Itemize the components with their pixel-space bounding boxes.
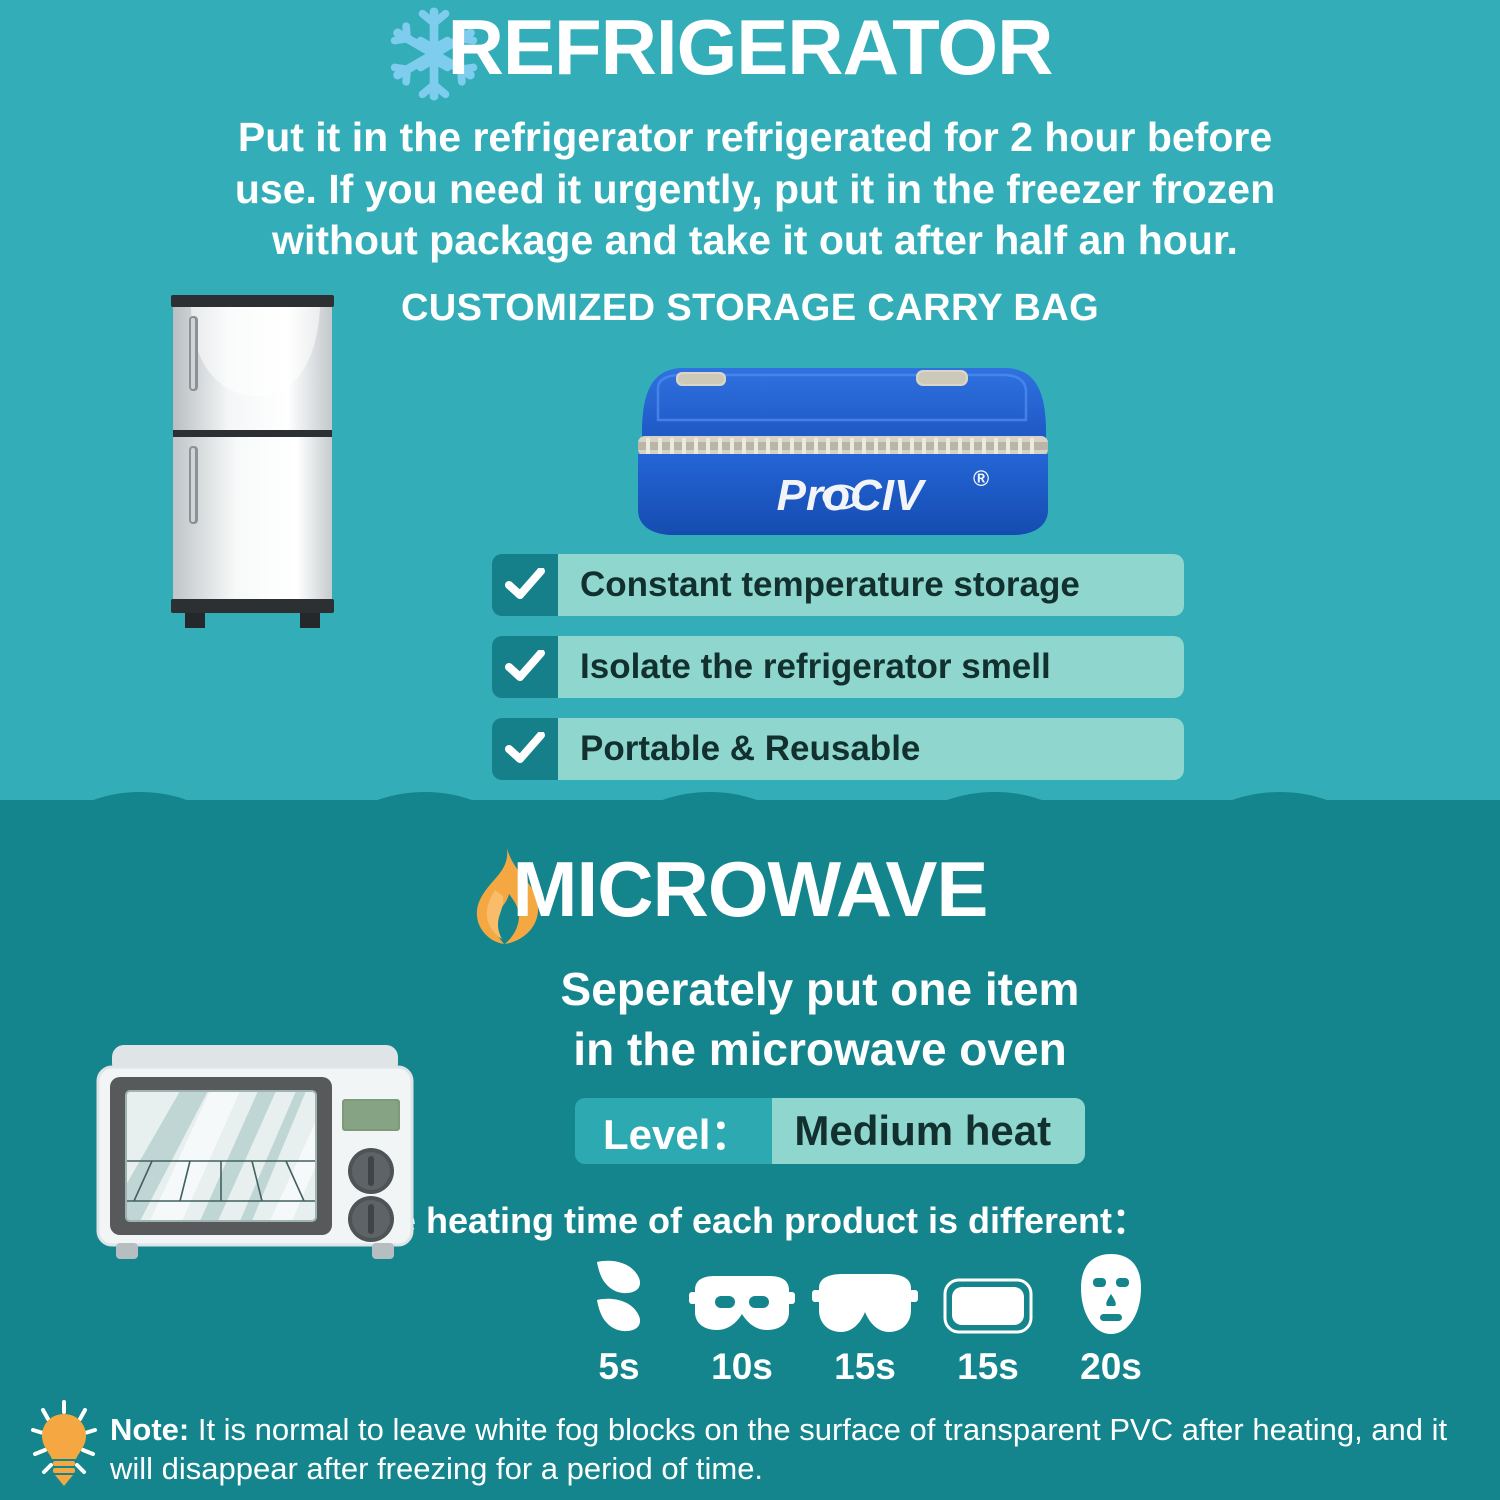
footer-note: Note: It is normal to leave white fog bl… bbox=[28, 1396, 1478, 1492]
list-item: Isolate the refrigerator smell bbox=[492, 636, 1184, 698]
storage-carry-bag: ProCIV ® bbox=[628, 358, 1058, 548]
microwave-instruction-line1: Seperately put one item bbox=[440, 960, 1200, 1020]
lightbulb-icon bbox=[28, 1396, 100, 1492]
list-item: Constant temperature storage bbox=[492, 554, 1184, 616]
note-body: It is normal to leave white fog blocks o… bbox=[110, 1412, 1447, 1486]
face-mask-icon bbox=[1076, 1252, 1146, 1338]
page-title: REFRIGERATOR bbox=[448, 8, 1053, 86]
feature-list: Constant temperature storage Isolate the… bbox=[492, 554, 1192, 800]
list-item: 20s bbox=[1052, 1252, 1170, 1388]
icon-time-label: 20s bbox=[1080, 1346, 1142, 1388]
icon-time-label: 15s bbox=[834, 1346, 896, 1388]
product-icons-row: 5s 10s 15s bbox=[560, 1252, 1170, 1388]
level-value: Medium heat bbox=[772, 1098, 1085, 1164]
microwave-header: MICROWAVE bbox=[0, 850, 1500, 928]
level-label: Level： bbox=[575, 1098, 772, 1164]
feature-label: Isolate the refrigerator smell bbox=[558, 636, 1184, 698]
feature-label: Portable & Reusable bbox=[558, 718, 1184, 780]
microwave-instruction-line2: in the microwave oven bbox=[440, 1020, 1200, 1080]
refrigerator-illustration bbox=[165, 290, 340, 635]
microwave-illustration bbox=[90, 1035, 420, 1267]
refrigerator-instructions: Put it in the refrigerator refrigerated … bbox=[215, 112, 1295, 267]
icon-time-label: 15s bbox=[957, 1346, 1019, 1388]
microwave-instructions: Seperately put one item in the microwave… bbox=[440, 960, 1200, 1080]
note-label: Note: bbox=[110, 1412, 189, 1447]
infographic-page: REFRIGERATOR Put it in the refrigerator … bbox=[0, 0, 1500, 1500]
icon-time-label: 5s bbox=[598, 1346, 639, 1388]
list-item: Portable & Reusable bbox=[492, 718, 1184, 780]
feature-label: Constant temperature storage bbox=[558, 554, 1184, 616]
check-icon bbox=[492, 554, 558, 616]
list-item: 15s bbox=[929, 1252, 1047, 1388]
level-badge: Level： Medium heat bbox=[575, 1098, 1085, 1164]
list-item: 5s bbox=[560, 1252, 678, 1388]
bag-brand-text: ProCIV bbox=[777, 471, 927, 520]
icon-time-label: 10s bbox=[711, 1346, 773, 1388]
eye-mask-icon bbox=[687, 1252, 797, 1338]
eye-patches-icon bbox=[581, 1252, 657, 1338]
gel-pad-icon bbox=[942, 1252, 1034, 1338]
microwave-title: MICROWAVE bbox=[513, 850, 988, 928]
check-icon bbox=[492, 636, 558, 698]
sleep-mask-icon bbox=[809, 1252, 921, 1338]
list-item: 10s bbox=[683, 1252, 801, 1388]
list-item: 15s bbox=[806, 1252, 924, 1388]
footer-note-text: Note: It is normal to leave white fog bl… bbox=[110, 1396, 1478, 1488]
check-icon bbox=[492, 718, 558, 780]
bag-trademark: ® bbox=[973, 466, 989, 491]
refrigerator-header: REFRIGERATOR bbox=[0, 8, 1500, 86]
